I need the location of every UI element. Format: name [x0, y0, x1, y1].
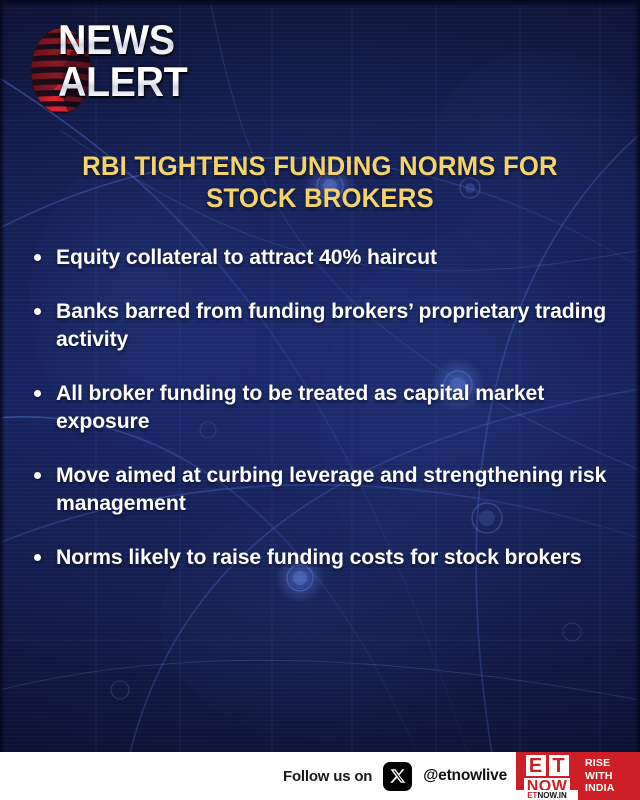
bullet-dot-icon	[34, 472, 41, 479]
bullet-dot-icon	[34, 308, 41, 315]
list-item: Banks barred from funding brokers’ propr…	[34, 297, 618, 353]
list-item: Move aimed at curbing leverage and stren…	[34, 461, 618, 517]
list-item-text: Move aimed at curbing leverage and stren…	[56, 461, 610, 517]
tagline-line-2: WITH	[585, 770, 613, 783]
left-edge-border	[0, 0, 5, 752]
etnow-logo[interactable]: E T NOW ETNOW.IN	[516, 752, 578, 800]
list-item-text: All broker funding to be treated as capi…	[56, 379, 610, 435]
tagline-line-3: INDIA	[585, 782, 615, 795]
top-edge-border	[0, 0, 640, 5]
news-alert-wordmark: NEWS ALERT	[58, 20, 278, 102]
x-twitter-icon[interactable]	[383, 762, 412, 791]
news-word: NEWS	[58, 20, 265, 60]
bullet-dot-icon	[34, 254, 41, 261]
logo-letter-t: T	[549, 755, 569, 776]
logo-website-prefix: ET	[527, 791, 537, 800]
logo-website: ETNOW.IN	[516, 790, 578, 800]
tagline-block: RISE WITH INDIA	[578, 752, 640, 800]
bullet-dot-icon	[34, 390, 41, 397]
list-item: Norms likely to raise funding costs for …	[34, 543, 618, 571]
et-letters: E T	[526, 755, 569, 776]
logo-letter-e: E	[526, 755, 546, 776]
alert-word: ALERT	[58, 62, 265, 102]
list-item-text: Equity collateral to attract 40% haircut	[56, 243, 610, 271]
bullet-dot-icon	[34, 554, 41, 561]
follow-us-group: Follow us on @etnowlive	[283, 752, 516, 800]
news-alert-logo: NEWS ALERT	[22, 20, 282, 120]
tagline-line-1: RISE	[585, 757, 610, 770]
list-item: Equity collateral to attract 40% haircut	[34, 243, 618, 271]
bullet-list: Equity collateral to attract 40% haircut…	[34, 243, 618, 597]
logo-website-suffix: NOW.IN	[537, 791, 566, 800]
right-edge-border	[634, 0, 640, 752]
social-handle[interactable]: @etnowlive	[423, 767, 507, 785]
list-item-text: Norms likely to raise funding costs for …	[56, 543, 610, 571]
news-alert-card: NEWS ALERT RBI TIGHTENS FUNDING NORMS FO…	[0, 0, 640, 800]
footer-bar: Follow us on @etnowlive E T NOW ETNOW.IN…	[0, 752, 640, 800]
page-title: RBI TIGHTENS FUNDING NORMS FOR STOCK BRO…	[52, 150, 587, 214]
list-item: All broker funding to be treated as capi…	[34, 379, 618, 435]
follow-us-label: Follow us on	[283, 768, 372, 785]
list-item-text: Banks barred from funding brokers’ propr…	[56, 297, 610, 353]
